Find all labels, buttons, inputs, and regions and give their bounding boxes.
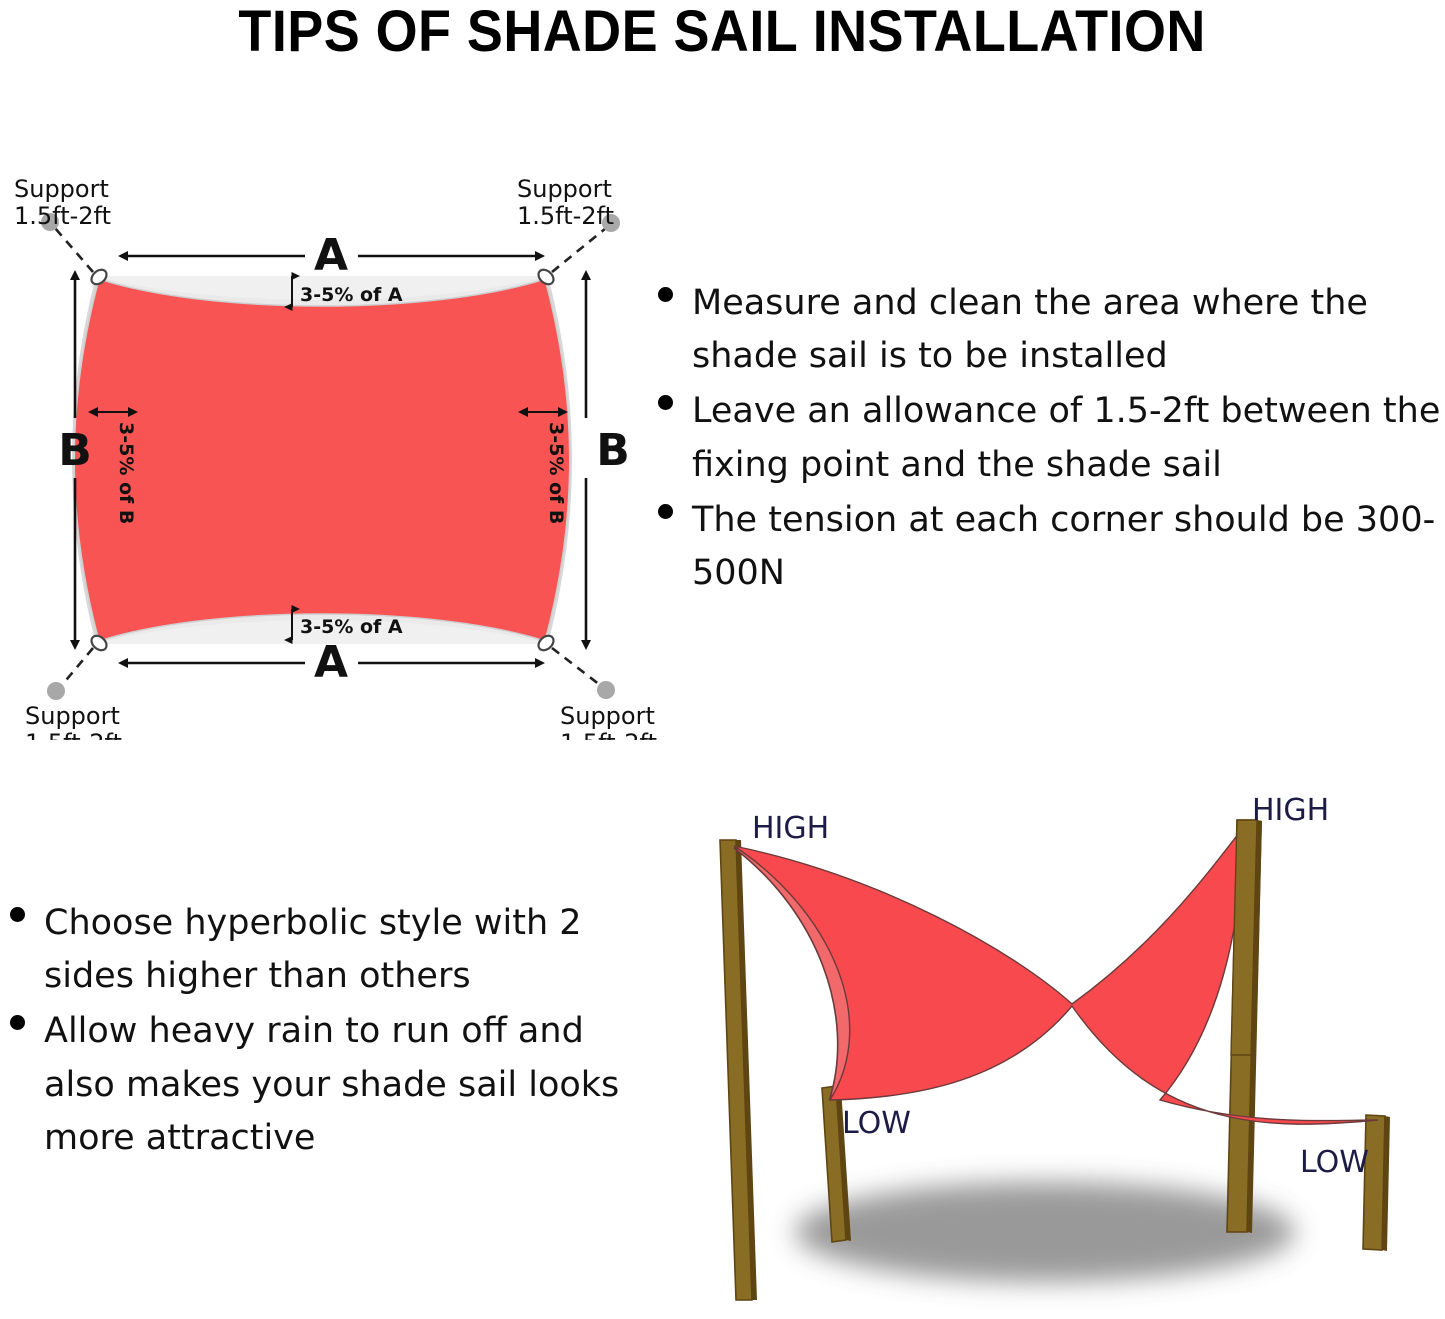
list-item: Measure and clean the area where the sha… xyxy=(648,277,1445,383)
post-left-high xyxy=(720,840,757,1300)
label-high-left: HIGH xyxy=(752,811,829,846)
support-label-top-left-line2: 1.5ft-2ft xyxy=(14,202,111,230)
support-leader-bottom-right xyxy=(552,648,615,699)
tips-item-text: Measure and clean the area where the sha… xyxy=(692,277,1445,383)
title-bar: TIPS OF SHADE SAIL INSTALLATION xyxy=(0,0,1445,64)
hyperbolic-item-text: Choose hyperbolic style with 2 sides hig… xyxy=(44,897,620,1003)
bullet-dot-icon xyxy=(658,287,673,302)
support-leader-bottom-left xyxy=(47,648,93,700)
dimension-line-right-b: B xyxy=(586,280,630,640)
support-label-bottom-left-line1: Support xyxy=(25,702,120,730)
tips-item-text: The tension at each corner should be 300… xyxy=(692,494,1445,600)
hyperbolic-sail-illustration: HIGH HIGH LOW LOW xyxy=(640,780,1445,1319)
dimension-label-left-b: B xyxy=(58,425,92,476)
list-item: The tension at each corner should be 300… xyxy=(648,494,1445,600)
dimension-line-bottom-a: A xyxy=(128,637,535,688)
curve-label-left: 3-5% of B xyxy=(115,422,137,524)
bullet-dot-icon xyxy=(658,395,673,410)
support-label-bottom-right: Support 1.5ft-2ft xyxy=(560,702,657,740)
label-low-left: LOW xyxy=(842,1106,911,1141)
post-right-low xyxy=(1363,1115,1390,1251)
tips-bullet-list: Measure and clean the area where the sha… xyxy=(648,277,1445,602)
page-title: TIPS OF SHADE SAIL INSTALLATION xyxy=(239,3,1206,61)
dimension-label-top-a: A xyxy=(314,230,348,281)
list-item: Leave an allowance of 1.5-2ft between th… xyxy=(648,385,1445,491)
label-low-right: LOW xyxy=(1300,1145,1369,1180)
label-high-right: HIGH xyxy=(1252,793,1329,828)
dimension-label-right-b: B xyxy=(596,425,630,476)
support-label-top-left-line1: Support xyxy=(14,175,109,203)
list-item: Choose hyperbolic style with 2 sides hig… xyxy=(0,897,620,1003)
support-label-top-right: Support 1.5ft-2ft xyxy=(517,175,614,230)
dimension-line-top-a: A xyxy=(128,230,535,281)
bullet-dot-icon xyxy=(658,504,673,519)
tips-item-text: Leave an allowance of 1.5-2ft between th… xyxy=(692,385,1445,491)
post-right-high-overlay xyxy=(1231,820,1262,1056)
hyperbolic-item-text: Allow heavy rain to run off and also mak… xyxy=(44,1005,620,1165)
support-label-bottom-right-line1: Support xyxy=(560,702,655,730)
hyperbolic-bullet-list: Choose hyperbolic style with 2 sides hig… xyxy=(0,897,620,1167)
shade-sail-shape xyxy=(74,279,570,641)
dimension-label-bottom-a: A xyxy=(314,637,348,688)
support-label-bottom-left-line2: 1.5ft-2ft xyxy=(25,729,122,740)
support-label-top-right-line2: 1.5ft-2ft xyxy=(517,202,614,230)
rectangular-sail-diagram: A 3-5% of A A 3-5% of A B 3-5% of B B 3-… xyxy=(0,160,660,740)
list-item: Allow heavy rain to run off and also mak… xyxy=(0,1005,620,1165)
support-dot-bottom-right xyxy=(597,681,615,699)
ground-shadow xyxy=(795,1182,1295,1282)
support-dot-bottom-left xyxy=(47,682,65,700)
curve-label-top: 3-5% of A xyxy=(300,284,403,306)
curve-label-right: 3-5% of B xyxy=(545,422,567,524)
curve-label-bottom: 3-5% of A xyxy=(300,616,403,638)
bullet-dot-icon xyxy=(10,1015,25,1030)
support-label-top-right-line1: Support xyxy=(517,175,612,203)
bullet-dot-icon xyxy=(10,907,25,922)
support-label-top-left: Support 1.5ft-2ft xyxy=(14,175,111,230)
support-label-bottom-left: Support 1.5ft-2ft xyxy=(25,702,122,740)
support-label-bottom-right-line2: 1.5ft-2ft xyxy=(560,729,657,740)
